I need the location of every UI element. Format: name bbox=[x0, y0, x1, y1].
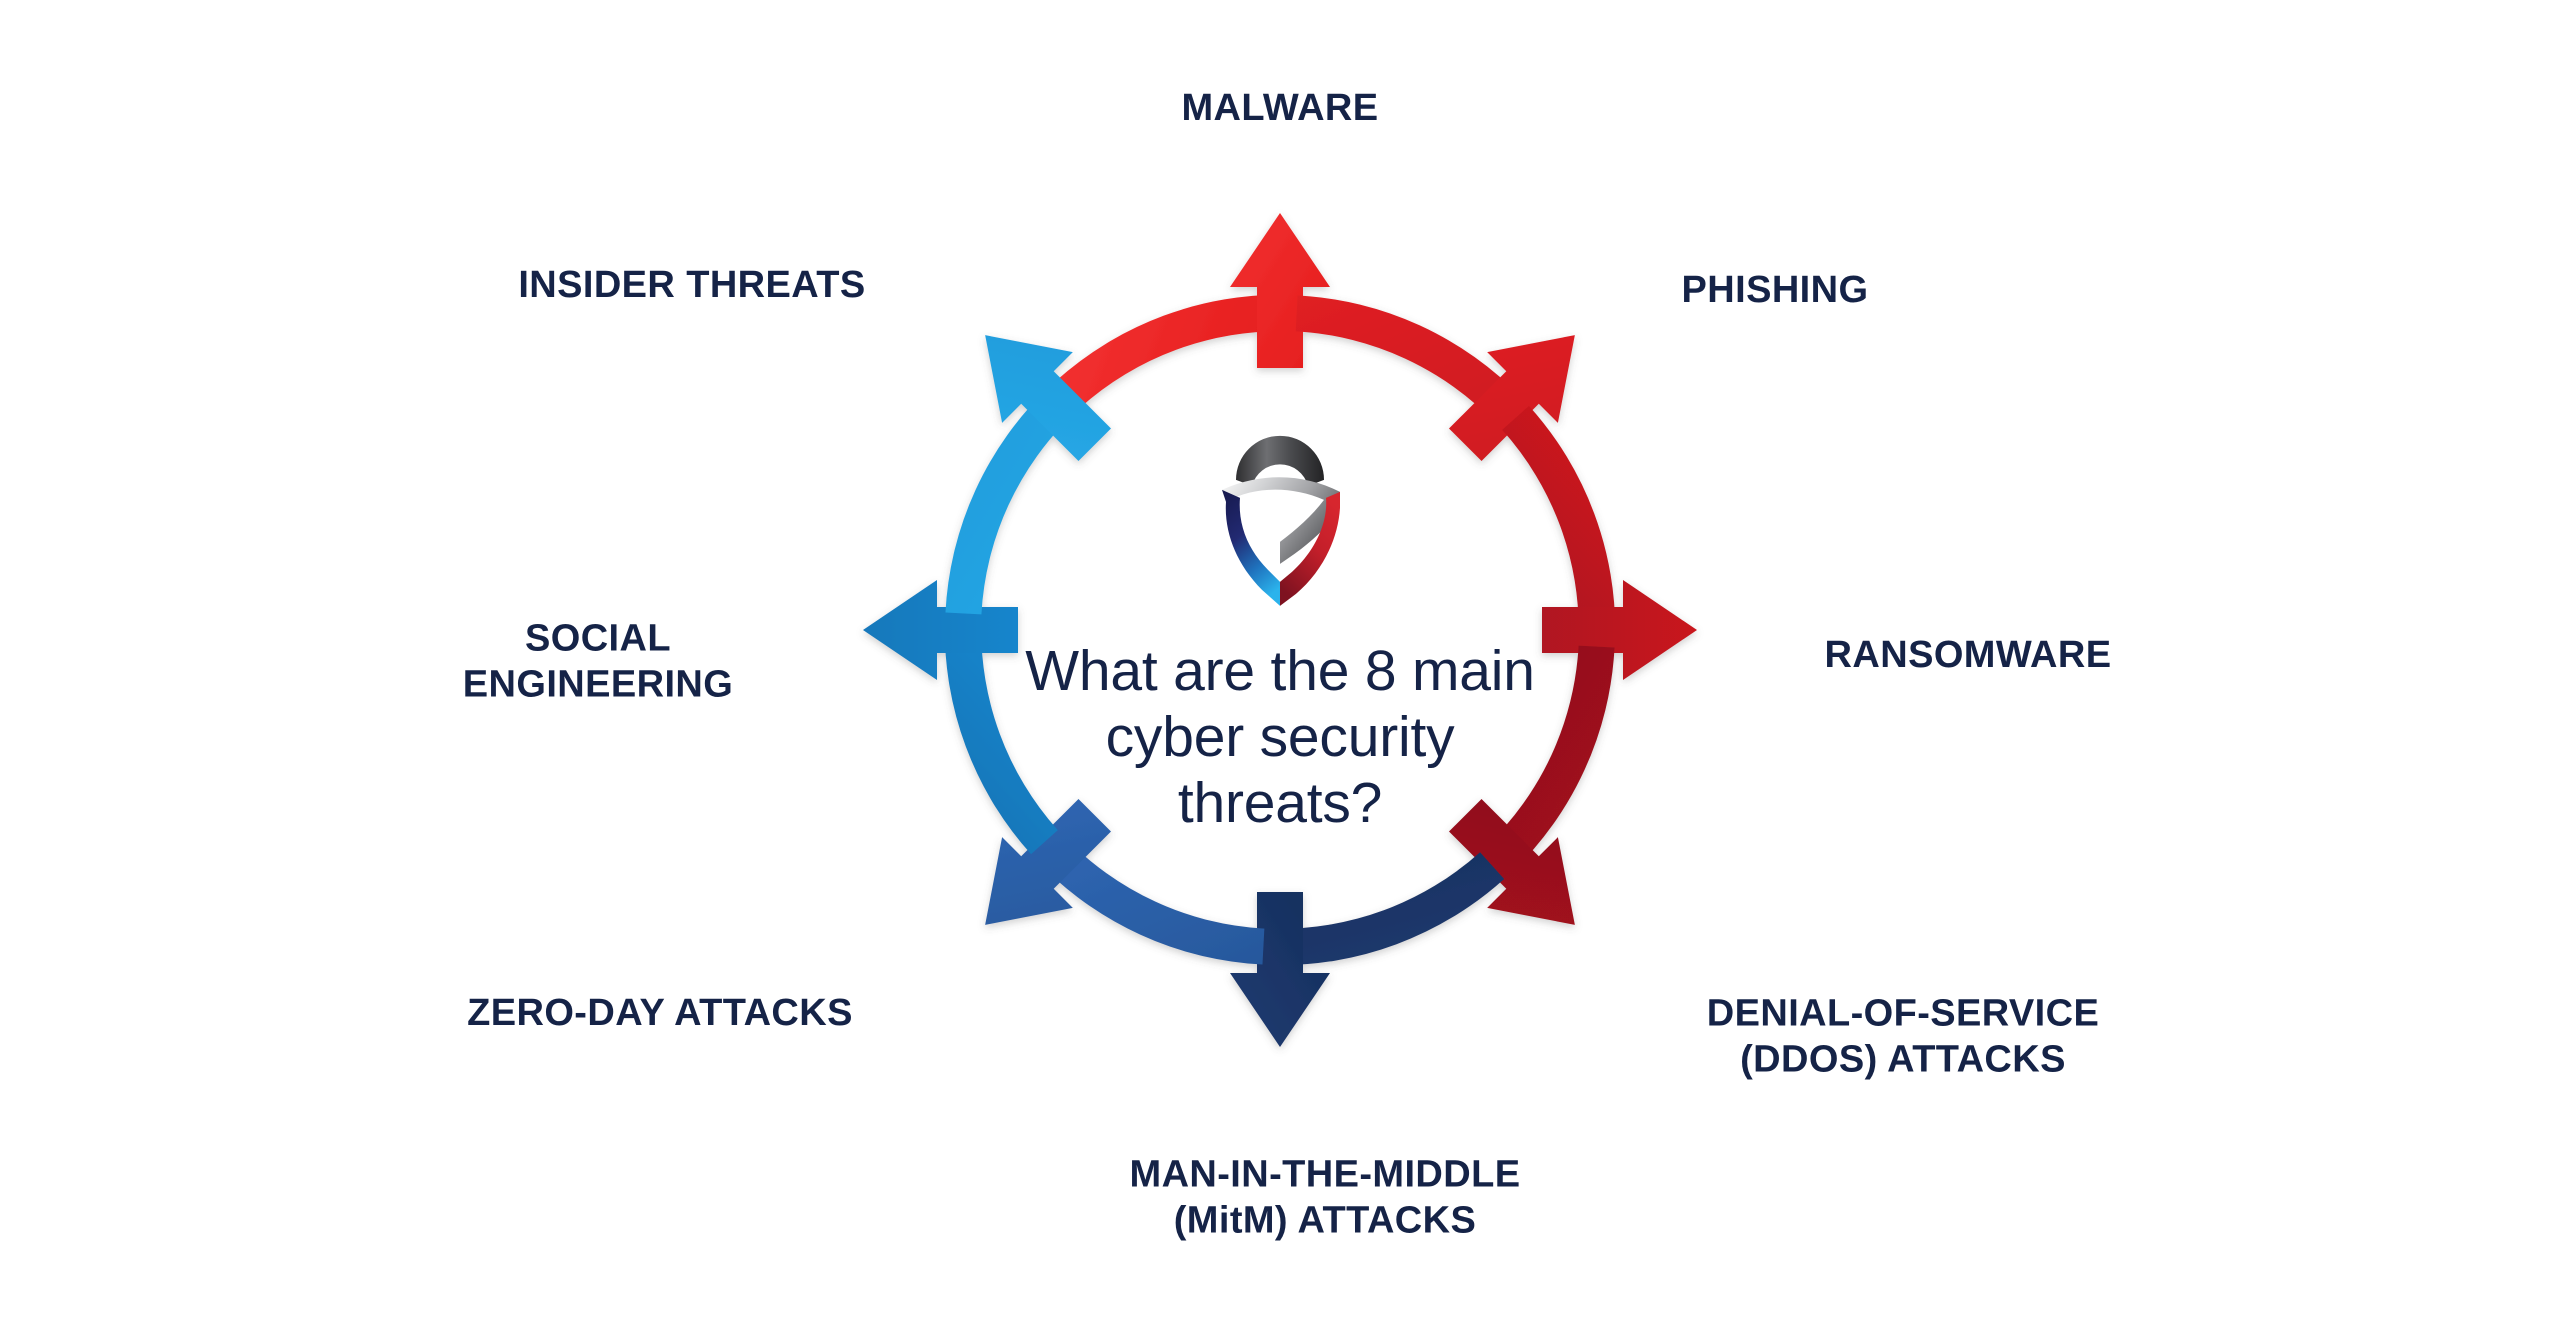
threat-label-zeroday[interactable]: ZERO-DAY ATTACKS bbox=[467, 990, 853, 1036]
threat-label-malware[interactable]: MALWARE bbox=[1181, 85, 1378, 131]
threat-label-insider-threats[interactable]: INSIDER THREATS bbox=[518, 262, 865, 308]
threat-label-phishing[interactable]: PHISHING bbox=[1682, 267, 1869, 313]
threat-label-social-engineering[interactable]: SOCIAL ENGINEERING bbox=[463, 616, 733, 709]
threat-cycle-ring bbox=[0, 0, 2560, 1340]
threat-label-ddos[interactable]: DENIAL-OF-SERVICE (DDOS) ATTACKS bbox=[1707, 991, 2099, 1084]
infographic-canvas: What are the 8 main cyber security threa… bbox=[0, 0, 2560, 1340]
threat-label-mitm[interactable]: MAN-IN-THE-MIDDLE (MitM) ATTACKS bbox=[1130, 1152, 1521, 1245]
threat-label-ransomware[interactable]: RANSOMWARE bbox=[1825, 632, 2112, 678]
